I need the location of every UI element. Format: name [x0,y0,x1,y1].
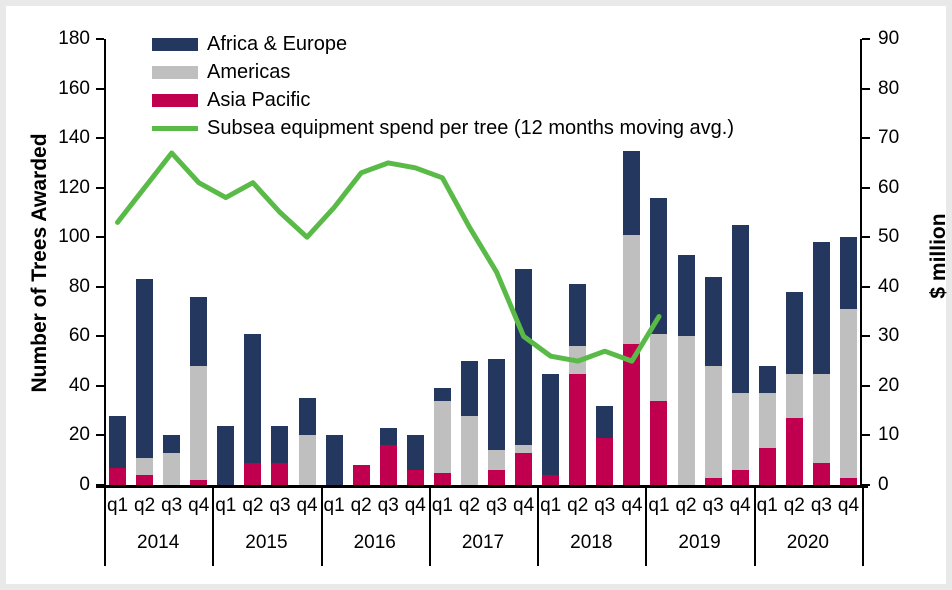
x-axis-quarter-label: q4 [403,490,427,522]
y-tick-label-right: 40 [878,277,899,296]
x-axis-year-label: 2017 [443,526,523,560]
subsea-spend-line [118,153,660,361]
y-tick-label-right: 70 [878,128,899,147]
x-axis-quarter-label: q3 [268,490,292,522]
chart-canvas: Number of Trees Awarded $ million 020406… [0,0,952,590]
x-axis-quarter-label: q3 [809,490,833,522]
x-axis-year-label: 2019 [660,526,740,560]
y-tick-label-left: 120 [6,178,90,197]
y-tick-right [862,88,870,90]
x-axis-quarter-label: q2 [133,490,157,522]
y-tick-right [862,187,870,189]
y-tick-left [96,434,104,436]
x-axis-quarter-label: q1 [647,490,671,522]
x-axis-year-label: 2015 [226,526,306,560]
legend-label: Subsea equipment spend per tree (12 mont… [207,118,734,138]
x-axis-quarter-label: q2 [566,490,590,522]
year-separator [104,488,106,566]
y-tick-left [96,88,104,90]
legend-item[interactable]: Asia Pacific [152,87,752,113]
x-axis-quarter-label: q1 [214,490,238,522]
y-tick-right [862,236,870,238]
x-axis-quarter-label: q3 [376,490,400,522]
y-tick-label-right: 20 [878,376,899,395]
y-tick-label-left: 140 [6,128,90,147]
x-axis-quarter-label: q2 [349,490,373,522]
x-axis-quarter-label: q1 [539,490,563,522]
legend-label: Asia Pacific [207,90,310,110]
x-axis-quarter-label: q1 [755,490,779,522]
y-tick-label-left: 60 [6,326,90,345]
x-axis-quarter-label: q2 [457,490,481,522]
year-separator [645,488,647,566]
y-tick-right [862,286,870,288]
x-axis-quarter-label: q4 [295,490,319,522]
y-tick-label-right: 60 [878,178,899,197]
x-axis-quarter-label: q1 [430,490,454,522]
x-axis-year-label: 2020 [768,526,848,560]
x-axis-year-label: 2014 [118,526,198,560]
legend-color-swatch [152,94,198,107]
y-tick-left [96,137,104,139]
x-axis-quarter-label: q4 [728,490,752,522]
y-tick-label-left: 0 [6,475,90,494]
x-axis-quarter-label: q3 [485,490,509,522]
x-axis-quarter-labels: q1q2q3q4q1q2q3q4q1q2q3q4q1q2q3q4q1q2q3q4… [104,490,862,526]
x-axis-quarter-label: q4 [620,490,644,522]
y-tick-label-right: 0 [878,475,889,494]
x-axis-quarter-label: q1 [322,490,346,522]
year-separator [212,488,214,566]
y-tick-label-left: 20 [6,425,90,444]
y-tick-label-left: 80 [6,277,90,296]
legend-item[interactable]: Africa & Europe [152,31,752,57]
x-axis-quarter-label: q4 [512,490,536,522]
legend-label: Africa & Europe [207,34,347,54]
x-axis-quarter-label: q3 [593,490,617,522]
y-tick-right [862,385,870,387]
y-tick-right [862,137,870,139]
year-separator [429,488,431,566]
chart-legend: Africa & EuropeAmericasAsia PacificSubse… [152,31,752,143]
y-tick-left [96,187,104,189]
y-tick-label-right: 80 [878,79,899,98]
y-axis-right-title: $ million [926,106,952,406]
x-axis-quarter-label: q1 [106,490,130,522]
y-tick-left [96,335,104,337]
y-tick-label-right: 10 [878,425,899,444]
x-axis-quarter-label: q4 [187,490,211,522]
legend-line-swatch [152,126,198,131]
x-axis-year-label: 2018 [551,526,631,560]
y-tick-left [96,286,104,288]
y-tick-label-right: 90 [878,29,899,48]
year-separator [321,488,323,566]
x-axis-quarter-label: q3 [160,490,184,522]
legend-label: Americas [207,62,290,82]
legend-color-swatch [152,66,198,79]
x-axis-quarter-label: q2 [241,490,265,522]
x-axis-quarter-label: q4 [836,490,860,522]
year-separator [537,488,539,566]
x-axis-year-labels: 2014201520162017201820192020 [104,526,862,566]
x-axis-quarter-label: q2 [674,490,698,522]
legend-item[interactable]: Subsea equipment spend per tree (12 mont… [152,115,752,141]
y-axis-left-title: Number of Trees Awarded [26,40,54,486]
y-tick-right [862,335,870,337]
y-tick-right [862,434,870,436]
legend-item[interactable]: Americas [152,59,752,85]
y-tick-label-right: 30 [878,326,899,345]
x-axis-year-label: 2016 [335,526,415,560]
y-tick-label-left: 40 [6,376,90,395]
year-separator [862,488,864,566]
y-tick-label-left: 100 [6,227,90,246]
y-tick-label-right: 50 [878,227,899,246]
y-tick-left [96,385,104,387]
y-tick-label-left: 160 [6,79,90,98]
y-tick-right [862,38,870,40]
x-axis-quarter-label: q3 [701,490,725,522]
y-tick-label-left: 180 [6,29,90,48]
legend-color-swatch [152,38,198,51]
x-axis-quarter-label: q2 [782,490,806,522]
y-tick-left [96,236,104,238]
year-separator [754,488,756,566]
y-tick-left [96,38,104,40]
